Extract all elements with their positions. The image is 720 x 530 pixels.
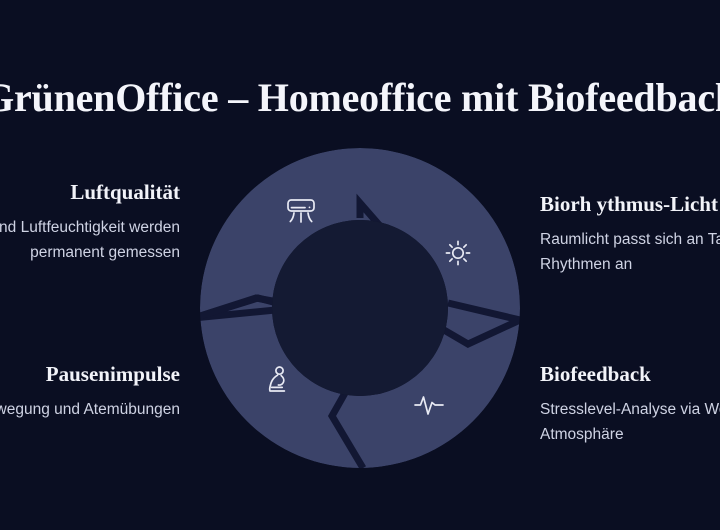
feature-wheel: [200, 148, 520, 468]
wheel-svg: [200, 148, 520, 468]
feature-description: Erinnerungen zu Bewegung und Atemübungen: [0, 397, 180, 422]
feature-description: Stresslevel-Analyse via Wearable und ada…: [540, 397, 720, 447]
feature-block-biofeedback: Biofeedback Stresslevel-Analyse via Wear…: [540, 362, 720, 447]
feature-description: Raumlicht passt sich an Tages- und natür…: [540, 227, 720, 277]
feature-title: Luftqualität: [0, 180, 180, 205]
feature-title: Biofeedback: [540, 362, 720, 387]
page-title: GrünenOffice – Homeoffice mit Biofeedbac…: [0, 74, 720, 121]
feature-title: Biorh ythmus-Licht: [540, 192, 720, 217]
feature-title: Pausenimpulse: [0, 362, 180, 387]
wheel-hub: [272, 220, 448, 396]
feature-block-pausenimpulse: Pausenimpulse Erinnerungen zu Bewegung u…: [0, 362, 180, 422]
feature-description: CO₂, Temperatur und Luftfeuchtigkeit wer…: [0, 215, 180, 265]
feature-block-biorhythmus-licht: Biorh ythmus-Licht Raumlicht passt sich …: [540, 192, 720, 277]
feature-block-luftqualitaet: Luftqualität CO₂, Temperatur und Luftfeu…: [0, 180, 180, 265]
infographic-stage: GrünenOffice – Homeoffice mit Biofeedbac…: [0, 0, 720, 530]
